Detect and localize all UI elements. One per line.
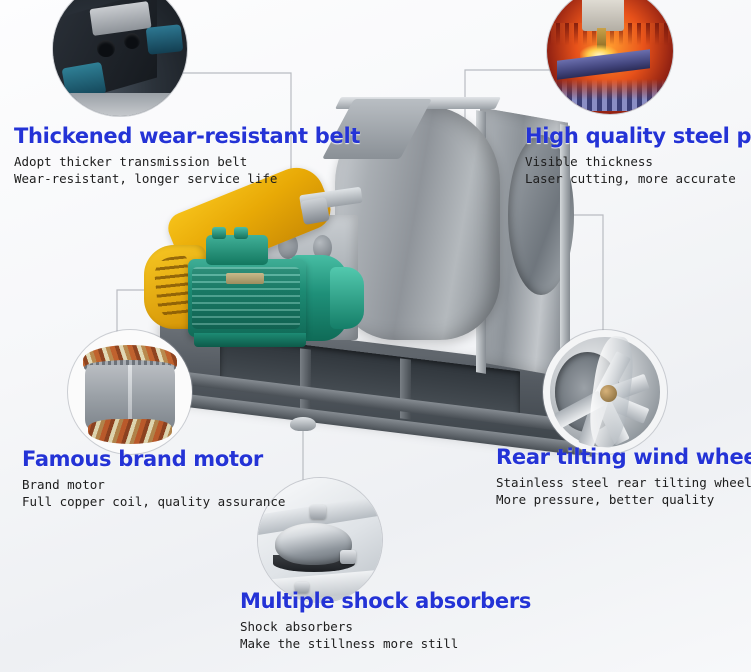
motor-terminal-box: [206, 235, 268, 265]
motor-lug-b: [234, 227, 248, 239]
callout-steel-description: Visible thickness Laser cutting, more ac…: [525, 154, 751, 188]
callout-wheel-line-2: More pressure, better quality: [496, 492, 751, 509]
callout-motor-description: Brand motor Full copper coil, quality as…: [22, 477, 285, 511]
callout-motor: Famous brand motor Brand motor Full copp…: [22, 448, 285, 511]
callout-motor-line-1: Brand motor: [22, 477, 285, 494]
callout-belt-line-2: Wear-resistant, longer service life: [14, 171, 360, 188]
callout-belt-title: Thickened wear-resistant belt: [14, 125, 360, 148]
callout-wheel: Rear tilting wind wheel Stainless steel …: [496, 446, 751, 509]
base-crossmember-a: [300, 348, 311, 409]
motor-nameplate: [226, 273, 264, 284]
callout-steel-line-2: Laser cutting, more accurate: [525, 171, 751, 188]
callout-motor-line-2: Full copper coil, quality assurance: [22, 494, 285, 511]
impeller-photo-icon: [543, 330, 667, 454]
callout-wheel-description: Stainless steel rear tilting wheel More …: [496, 475, 751, 509]
callout-shock-line-1: Shock absorbers: [240, 619, 531, 636]
callout-belt: Thickened wear-resistant belt Adopt thic…: [14, 125, 360, 188]
callout-shock-description: Shock absorbers Make the stillness more …: [240, 619, 531, 653]
callout-shock-title: Multiple shock absorbers: [240, 590, 531, 613]
callout-motor-title: Famous brand motor: [22, 448, 285, 471]
bearing-housing: [300, 197, 330, 225]
callout-steel: High quality steel plate Visible thickne…: [525, 125, 751, 188]
callout-steel-title: High quality steel plate: [525, 125, 751, 148]
belt-drive-photo-icon: [53, 0, 187, 116]
motor-shaft-end: [330, 267, 364, 329]
callout-wheel-title: Rear tilting wind wheel: [496, 446, 751, 469]
callout-wheel-line-1: Stainless steel rear tilting wheel: [496, 475, 751, 492]
motor-feet: [194, 333, 306, 347]
callout-shock-line-2: Make the stillness more still: [240, 636, 531, 653]
callout-steel-line-1: Visible thickness: [525, 154, 751, 171]
callout-belt-description: Adopt thicker transmission belt Wear-res…: [14, 154, 360, 188]
infographic-page: Thickened wear-resistant belt Adopt thic…: [0, 0, 751, 672]
motor-lug-a: [212, 227, 226, 239]
laser-cutting-photo-icon: [547, 0, 673, 114]
callout-shock: Multiple shock absorbers Shock absorbers…: [240, 590, 531, 653]
base-shock-mount: [290, 417, 316, 431]
callout-belt-line-1: Adopt thicker transmission belt: [14, 154, 360, 171]
motor-stator-photo-icon: [68, 330, 192, 454]
